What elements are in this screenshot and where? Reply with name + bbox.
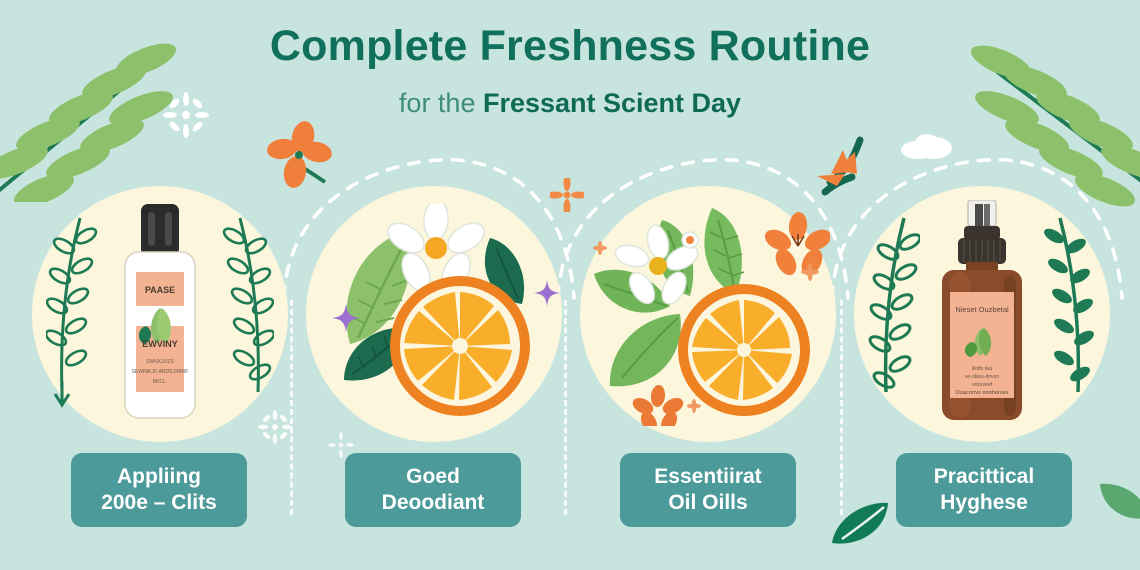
panel-3-label-line2: Oil Oills bbox=[654, 490, 761, 516]
bottle-label-bottom-text: EWVINY bbox=[142, 339, 178, 349]
panel-4-label-line1: Pracittical bbox=[934, 464, 1034, 490]
dashed-divider bbox=[564, 300, 567, 515]
panel-3-label-line1: Essentiirat bbox=[654, 464, 761, 490]
orange-sparkle-icon bbox=[550, 178, 584, 212]
panel-2-label-pill[interactable]: Goed Deoodiant bbox=[345, 453, 521, 527]
panel-4[interactable]: Nieset Ouzbetal iliotfo lwu se-obios-dnv… bbox=[854, 186, 1110, 442]
panel-1-label-line1: Appliing bbox=[101, 464, 217, 490]
lotion-bottle-illustration: PAASE EWVINY SWNXJOZS SEWINKJD ARDSJXBRF… bbox=[110, 204, 210, 422]
leaves-citrus-blossoms-illustration bbox=[586, 200, 830, 426]
infographic-canvas: Complete Freshness Routine for the Fress… bbox=[0, 0, 1140, 570]
spray-fineprint-2: se-obios-dnvon bbox=[965, 374, 999, 380]
spray-fineprint-1: iliotfo lwu bbox=[972, 366, 993, 372]
panel-4-label-line2: Hyghese bbox=[934, 490, 1034, 516]
purple-sparkle-icon bbox=[332, 304, 360, 332]
spray-fineprint-4: Ouacorrvo ooohorves bbox=[956, 390, 1009, 396]
bottle-fineprint-1: SWNXJOZS bbox=[146, 359, 174, 365]
panel-2-label-line1: Goed bbox=[382, 464, 485, 490]
page-title: Complete Freshness Routine bbox=[0, 22, 1140, 71]
spray-bottle-illustration: Nieset Ouzbetal iliotfo lwu se-obios-dnv… bbox=[930, 200, 1034, 426]
page-subtitle: for the Fressant Scient Day bbox=[0, 88, 1140, 119]
panel-1-label-pill[interactable]: Appliing 200e – Clits bbox=[71, 453, 247, 527]
vine-sprig-icon bbox=[868, 212, 920, 412]
leaf-icon bbox=[1096, 478, 1140, 526]
spray-label-text: Nieset Ouzbetal bbox=[955, 305, 1009, 314]
bottle-fineprint-2: SEWINKJD ARDSJXBRF bbox=[132, 369, 189, 375]
bottle-fineprint-3: BKCL. bbox=[153, 379, 167, 385]
leaf-icon bbox=[826, 495, 896, 555]
vine-sprig-icon bbox=[222, 212, 274, 412]
panel-1-label-text: Appliing 200e – Clits bbox=[101, 464, 217, 515]
bottle-label-top-text: PAASE bbox=[145, 285, 175, 295]
panel-2-label-line2: Deoodiant bbox=[382, 490, 485, 516]
spray-fineprint-3: erizvveef bbox=[972, 382, 993, 388]
panel-3[interactable] bbox=[580, 186, 836, 442]
dashed-divider bbox=[290, 300, 293, 515]
panel-4-label-text: Pracittical Hyghese bbox=[934, 464, 1034, 515]
panel-3-label-text: Essentiirat Oil Oills bbox=[654, 464, 761, 515]
vine-sprig-icon bbox=[46, 212, 98, 412]
panel-1[interactable]: PAASE EWVINY SWNXJOZS SEWINKJD ARDSJXBRF… bbox=[32, 186, 288, 442]
vine-sprig-icon bbox=[1044, 212, 1096, 412]
panel-1-label-line2: 200e – Clits bbox=[101, 490, 217, 516]
panel-4-label-pill[interactable]: Pracittical Hyghese bbox=[896, 453, 1072, 527]
purple-sparkle-icon bbox=[534, 280, 560, 306]
panel-2[interactable] bbox=[306, 186, 562, 442]
dashed-divider bbox=[840, 300, 843, 515]
subtitle-prefix: for the bbox=[399, 88, 483, 118]
panel-2-label-text: Goed Deoodiant bbox=[382, 464, 485, 515]
panel-3-label-pill[interactable]: Essentiirat Oil Oills bbox=[620, 453, 796, 527]
subtitle-emphasis: Fressant Scient Day bbox=[483, 88, 741, 118]
